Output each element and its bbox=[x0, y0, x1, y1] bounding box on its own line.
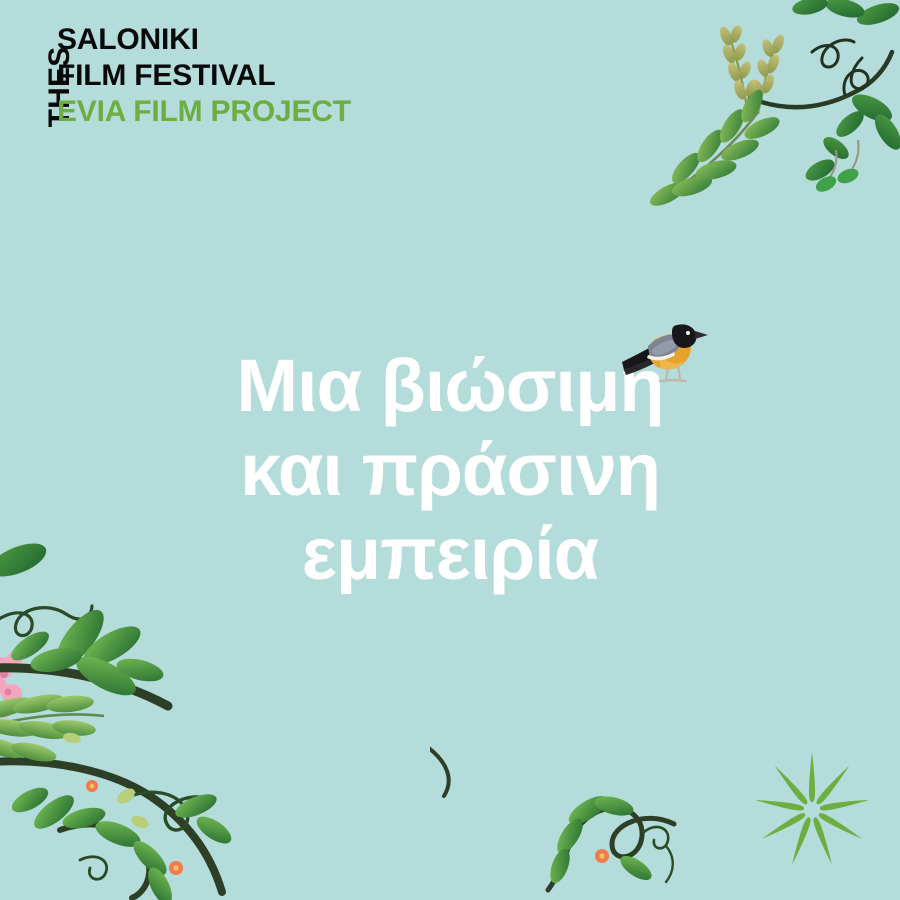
leaves-bottom-center bbox=[546, 791, 655, 886]
bird-icon bbox=[612, 300, 712, 400]
leaf-spray-top-right bbox=[647, 87, 783, 211]
logo-line-saloniki: SALONIKI bbox=[57, 22, 351, 58]
headline-block: Μια βιώσιμη και πράσινη εμπειρία bbox=[0, 344, 900, 596]
headline-line-3: εμπειρία bbox=[0, 512, 900, 596]
coral-flower-bottom-center bbox=[595, 849, 609, 863]
logo-wordmark: SALONIKI FILM FESTIVAL EVIA FILM PROJECT bbox=[57, 22, 351, 130]
headline-line-2: και πράσινη bbox=[0, 428, 900, 512]
festival-star-icon[interactable] bbox=[748, 746, 876, 874]
logo-line-film-festival: FILM FESTIVAL bbox=[57, 58, 351, 94]
headline-line-1: Μια βιώσιμη bbox=[0, 344, 900, 428]
compound-leaf-fan bbox=[0, 691, 104, 766]
foliage-top-right bbox=[640, 0, 900, 240]
logo-line-evia-film-project: EVIA FILM PROJECT bbox=[57, 94, 351, 130]
poster-canvas: THES SALONIKI FILM FESTIVAL EVIA FILM PR… bbox=[0, 0, 900, 900]
festival-logo[interactable]: THES SALONIKI FILM FESTIVAL EVIA FILM PR… bbox=[22, 22, 442, 152]
foliage-bottom-center bbox=[430, 740, 770, 900]
leaves-cluster-upper bbox=[7, 603, 166, 703]
